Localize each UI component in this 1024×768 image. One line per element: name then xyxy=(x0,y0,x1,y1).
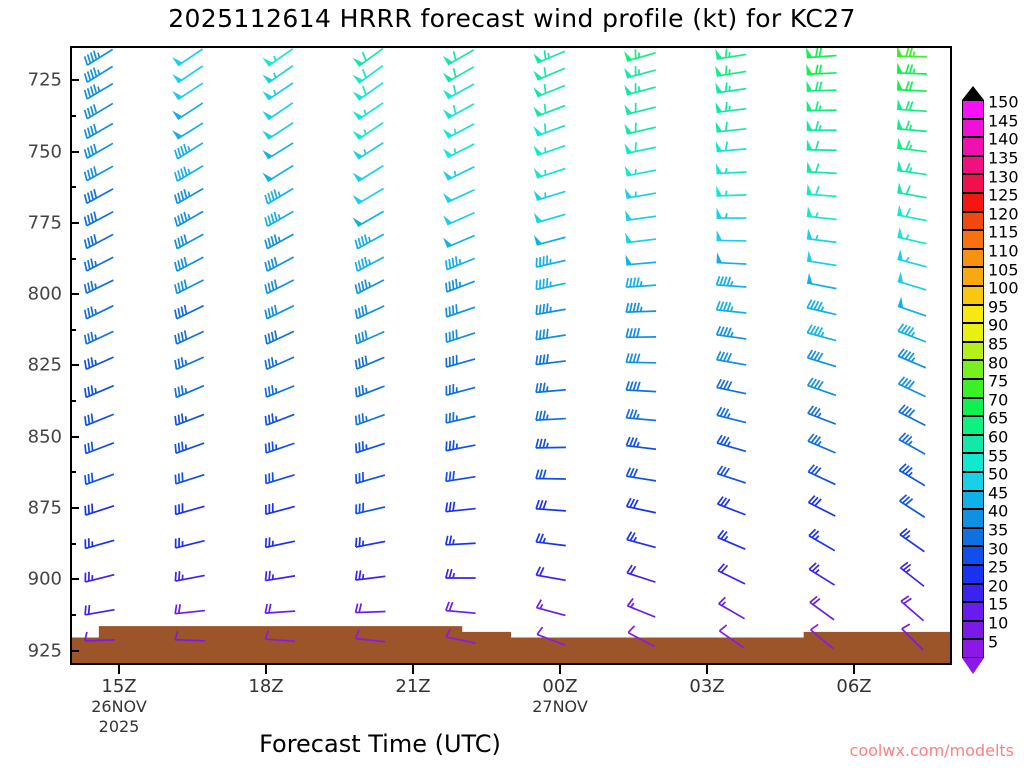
wind-barb xyxy=(808,465,835,485)
wind-barb xyxy=(266,472,295,483)
wind-barb xyxy=(175,357,204,369)
wind-barb xyxy=(266,571,295,581)
wind-barb xyxy=(533,84,565,97)
wind-barb xyxy=(536,303,565,314)
wind-barb xyxy=(175,189,203,204)
wind-barb xyxy=(719,597,745,618)
y-axis-tick-label: 800 xyxy=(28,284,62,305)
colorbar-swatch xyxy=(962,360,984,379)
y-axis-minor-tick xyxy=(70,543,76,545)
y-axis-tick-label: 825 xyxy=(28,355,62,376)
wind-barb xyxy=(807,251,836,266)
colorbar-swatch xyxy=(962,453,984,472)
colorbar-tick-label: 50 xyxy=(988,465,1008,484)
wind-barb xyxy=(897,99,927,111)
wind-barb xyxy=(175,413,204,425)
wind-barb xyxy=(807,100,837,110)
colorbar-swatch xyxy=(962,621,984,640)
wind-barb xyxy=(898,249,927,267)
wind-barb xyxy=(536,567,565,581)
wind-barb xyxy=(353,143,384,159)
wind-barb xyxy=(534,168,566,178)
wind-barb xyxy=(717,208,747,218)
wind-barb xyxy=(897,182,926,197)
wind-barb xyxy=(262,143,293,159)
colorbar-tick-label: 35 xyxy=(988,521,1008,540)
wind-barb xyxy=(443,84,474,98)
wind-barb xyxy=(715,65,746,76)
wind-barb xyxy=(717,407,746,422)
wind-barb xyxy=(901,596,924,621)
wind-barb xyxy=(807,229,837,243)
colorbar-swatch xyxy=(962,323,984,342)
wind-barb xyxy=(626,353,656,362)
wind-barb xyxy=(625,233,656,243)
wind-barb xyxy=(809,529,835,550)
colorbar-swatch xyxy=(962,193,984,212)
wind-barb xyxy=(536,439,566,448)
wind-barb xyxy=(355,280,384,294)
wind-barb xyxy=(443,167,474,180)
wind-barb xyxy=(262,66,292,83)
wind-barb xyxy=(85,572,114,582)
y-axis-minor-tick xyxy=(70,186,76,188)
wind-barb xyxy=(534,123,566,135)
wind-barb xyxy=(356,413,385,425)
colorbar-swatch xyxy=(962,565,984,584)
wind-barb xyxy=(175,571,204,581)
wind-barb xyxy=(898,324,926,342)
wind-barb xyxy=(537,600,566,616)
wind-barb xyxy=(897,205,926,221)
wind-barb xyxy=(265,604,295,613)
wind-barb xyxy=(265,630,295,641)
wind-barb xyxy=(265,413,294,425)
wind-barb xyxy=(443,190,474,203)
colorbar-tick-label: 95 xyxy=(988,297,1008,316)
wind-barb xyxy=(628,626,654,647)
x-axis-tick-label: 03Z xyxy=(689,676,724,697)
wind-barb xyxy=(806,48,837,58)
y-axis-tick-mark xyxy=(70,151,79,153)
colorbar-tick-label: 150 xyxy=(988,93,1019,112)
colorbar-tick-label: 75 xyxy=(988,372,1008,391)
colorbar-tick-label: 80 xyxy=(988,353,1008,372)
wind-barb xyxy=(810,597,834,620)
colorbar-tick-label: 45 xyxy=(988,483,1008,502)
wind-barb xyxy=(353,66,383,84)
colorbar-tick-label: 140 xyxy=(988,130,1019,149)
wind-barb xyxy=(626,303,656,312)
wind-barb xyxy=(176,503,205,514)
wind-barb xyxy=(536,255,565,267)
wind-barb xyxy=(900,495,925,517)
colorbar-tick-label: 125 xyxy=(988,186,1019,205)
wind-barb xyxy=(446,279,475,292)
wind-barb xyxy=(446,602,476,613)
x-axis-title: Forecast Time (UTC) xyxy=(0,730,760,758)
y-axis-tick-label: 750 xyxy=(28,141,62,162)
wind-barb xyxy=(175,280,204,294)
wind-barb xyxy=(715,48,746,59)
colorbar-tick-label: 55 xyxy=(988,446,1008,465)
colorbar-swatch xyxy=(962,119,984,138)
wind-profile-chart: 2025112614 HRRR forecast wind profile (k… xyxy=(0,0,1024,768)
wind-barb xyxy=(536,383,566,393)
colorbar-swatch xyxy=(962,286,984,305)
wind-barb xyxy=(353,211,384,226)
colorbar-tick-label: 100 xyxy=(988,279,1019,298)
wind-barb xyxy=(175,631,205,641)
wind-barb xyxy=(85,189,113,203)
colorbar-swatch xyxy=(962,472,984,491)
y-axis-tick-mark xyxy=(70,364,79,366)
wind-barb xyxy=(353,166,384,182)
page-title: 2025112614 HRRR forecast wind profile (k… xyxy=(0,4,1024,33)
wind-barb xyxy=(807,300,836,315)
colorbar-swatch xyxy=(962,379,984,398)
wind-barb xyxy=(262,103,293,120)
wind-barb xyxy=(808,406,836,424)
wind-barb xyxy=(172,123,203,139)
wind-barb xyxy=(627,565,655,582)
wind-barb xyxy=(717,276,747,287)
colorbar-tick-label: 40 xyxy=(988,502,1008,521)
colorbar-swatch xyxy=(962,602,984,621)
y-axis-tick-label: 775 xyxy=(28,212,62,233)
wind-barb xyxy=(443,213,474,225)
wind-barb xyxy=(807,120,837,130)
colorbar-tick-label: 145 xyxy=(988,111,1019,130)
wind-barb xyxy=(85,357,114,369)
wind-barb xyxy=(717,252,747,264)
colorbar-tick-label: 25 xyxy=(988,558,1008,577)
y-axis-minor-tick xyxy=(70,115,76,117)
wind-barb xyxy=(446,304,475,317)
wind-barb xyxy=(897,227,926,244)
wind-barb xyxy=(175,257,203,271)
wind-barb xyxy=(807,184,837,196)
wind-barb xyxy=(175,305,204,319)
wind-barb xyxy=(897,160,927,174)
wind-barb xyxy=(809,496,836,516)
colorbar-swatch xyxy=(962,398,984,417)
wind-barb xyxy=(265,280,294,294)
wind-barb xyxy=(85,442,114,454)
colorbar-swatch xyxy=(962,491,984,510)
wind-barb xyxy=(85,538,114,548)
colorbar-swatch xyxy=(962,528,984,547)
watermark-link[interactable]: coolwx.com/modelts xyxy=(850,741,1014,760)
y-axis-tick-mark xyxy=(70,222,79,224)
wind-barb xyxy=(446,355,475,367)
wind-barb xyxy=(85,331,114,344)
wind-barb xyxy=(85,212,113,226)
wind-barb xyxy=(718,530,745,549)
wind-barb xyxy=(85,166,113,180)
wind-barb xyxy=(627,498,656,512)
wind-barb xyxy=(85,103,113,118)
wind-barb xyxy=(172,49,203,66)
colorbar-swatch xyxy=(962,435,984,454)
wind-barb xyxy=(534,146,566,156)
wind-barb xyxy=(624,123,655,134)
y-axis-minor-tick xyxy=(70,329,76,331)
y-axis-labels: 725750775800825850875900925 xyxy=(0,0,62,768)
wind-barb xyxy=(715,102,746,112)
wind-barb xyxy=(806,64,836,74)
colorbar-tick-label: 5 xyxy=(988,632,998,651)
wind-barb xyxy=(356,472,385,483)
wind-barb xyxy=(900,562,924,586)
colorbar-tick-label: 120 xyxy=(988,204,1019,223)
wind-barb xyxy=(446,330,475,343)
wind-barb xyxy=(85,605,114,615)
wind-barb xyxy=(900,529,924,552)
wind-barb xyxy=(717,379,746,393)
wind-barb xyxy=(172,103,203,119)
wind-barb-layer xyxy=(72,48,950,663)
wind-barb xyxy=(899,377,926,397)
y-axis-minor-tick xyxy=(70,258,76,260)
colorbar-swatch xyxy=(962,267,984,286)
colorbar-tick-label: 15 xyxy=(988,595,1008,614)
wind-barb xyxy=(266,503,295,514)
wind-barb xyxy=(443,50,474,65)
x-axis-tick-label: 06Z xyxy=(836,676,871,697)
wind-barb xyxy=(85,306,114,319)
wind-barb xyxy=(627,532,656,548)
wind-barb xyxy=(355,257,383,271)
wind-barb xyxy=(265,385,294,397)
wind-barb xyxy=(266,537,295,547)
wind-barb xyxy=(176,538,205,548)
colorbar-top-cap xyxy=(962,86,984,100)
colorbar-tick-label: 135 xyxy=(988,149,1019,168)
wind-barb xyxy=(898,349,925,368)
wind-barb xyxy=(626,328,656,337)
wind-barb xyxy=(625,188,656,198)
y-axis-tick-label: 850 xyxy=(28,426,62,447)
wind-barb xyxy=(897,63,927,74)
x-axis-tick-mark xyxy=(412,665,414,674)
wind-barb xyxy=(717,326,747,339)
y-axis-tick-label: 900 xyxy=(28,569,62,590)
y-axis-minor-tick xyxy=(70,400,76,402)
wind-barb xyxy=(811,624,834,648)
wind-barb xyxy=(265,211,293,226)
x-axis-tick-mark xyxy=(118,665,120,674)
wind-barb xyxy=(807,206,837,219)
wind-barb xyxy=(85,280,114,293)
wind-barb xyxy=(809,563,834,585)
colorbar-tick-label: 110 xyxy=(988,242,1019,261)
wind-barb xyxy=(355,305,384,319)
wind-barb xyxy=(353,103,384,120)
y-axis-tick-mark xyxy=(70,650,79,652)
y-axis-tick-label: 875 xyxy=(28,498,62,519)
wind-barb xyxy=(717,351,746,365)
wind-barb xyxy=(624,83,656,95)
wind-barb xyxy=(446,569,476,578)
wind-barb xyxy=(446,502,476,512)
wind-barb xyxy=(807,139,837,150)
wind-barb xyxy=(717,301,747,313)
wind-barb xyxy=(625,255,656,265)
y-axis-tick-mark xyxy=(70,79,79,81)
y-axis-tick-label: 725 xyxy=(28,70,62,91)
wind-barb xyxy=(446,440,475,451)
wind-barb xyxy=(534,190,566,200)
wind-barb xyxy=(718,497,746,515)
y-axis-tick-mark xyxy=(70,578,79,580)
wind-barb xyxy=(536,500,566,511)
wind-barb xyxy=(808,378,836,395)
x-axis-tick-mark xyxy=(853,665,855,674)
wind-barb xyxy=(356,630,386,642)
wind-barb xyxy=(446,256,475,269)
colorbar-swatch xyxy=(962,342,984,361)
colorbar-swatch xyxy=(962,100,984,119)
wind-barb xyxy=(265,330,294,344)
wind-barb xyxy=(265,188,293,203)
wind-barb xyxy=(536,470,566,479)
wind-barb xyxy=(536,329,565,340)
wind-barb xyxy=(85,414,114,426)
wind-barb xyxy=(624,103,655,114)
wind-barb xyxy=(85,257,114,271)
wind-barb xyxy=(262,49,292,66)
wind-barb xyxy=(85,143,113,158)
wind-barb xyxy=(897,79,927,91)
x-axis-date-label: 26NOV xyxy=(91,697,147,716)
wind-barb xyxy=(897,119,927,132)
wind-barb xyxy=(353,188,384,203)
wind-barb xyxy=(898,271,927,290)
colorbar-swatch xyxy=(962,509,984,528)
wind-barb xyxy=(897,48,927,57)
plot-area xyxy=(70,46,952,665)
wind-barb xyxy=(899,464,925,486)
wind-barb xyxy=(85,504,114,515)
wind-barb xyxy=(716,186,746,196)
wind-barb xyxy=(85,632,115,641)
wind-barb xyxy=(715,82,746,92)
wind-barb xyxy=(624,142,655,153)
wind-barb xyxy=(353,123,384,140)
wind-barb xyxy=(627,598,655,617)
wind-barb xyxy=(808,434,835,453)
colorbar-tick-label: 65 xyxy=(988,409,1008,428)
colorbar-tick-label: 60 xyxy=(988,428,1008,447)
wind-barb xyxy=(899,433,925,454)
wind-barb xyxy=(536,533,566,545)
wind-barb xyxy=(807,162,837,174)
colorbar-swatch xyxy=(962,156,984,175)
wind-barb xyxy=(534,235,566,245)
wind-barb xyxy=(716,122,747,132)
wind-barb xyxy=(262,166,293,182)
wind-barb xyxy=(626,381,656,391)
wind-barb xyxy=(897,138,927,152)
colorbar-swatch xyxy=(962,416,984,435)
wind-barb xyxy=(716,141,747,151)
wind-barb xyxy=(85,473,114,485)
colorbar-swatch xyxy=(962,230,984,249)
colorbar-tick-label: 90 xyxy=(988,316,1008,335)
x-axis-date-label: 27NOV xyxy=(532,697,588,716)
colorbar-swatch xyxy=(962,249,984,268)
wind-barb xyxy=(443,124,474,138)
wind-barb xyxy=(85,385,114,397)
wind-barb xyxy=(446,471,475,481)
colorbar-tick-label: 70 xyxy=(988,390,1008,409)
wind-barb xyxy=(356,385,385,397)
x-axis-tick-mark xyxy=(559,665,561,674)
wind-barb xyxy=(353,83,383,100)
wind-barb xyxy=(902,624,923,650)
x-axis-tick-mark xyxy=(706,665,708,674)
wind-barb xyxy=(533,67,565,80)
wind-barb xyxy=(172,66,203,83)
wind-barb xyxy=(536,278,565,289)
wind-barb xyxy=(443,235,475,247)
wind-barb xyxy=(175,211,203,226)
wind-barb xyxy=(356,603,386,612)
wind-barb xyxy=(806,81,836,91)
wind-barb xyxy=(175,604,205,614)
wind-barb xyxy=(262,83,293,100)
colorbar-swatch xyxy=(962,639,984,658)
x-axis-tick-label: 21Z xyxy=(395,676,430,697)
wind-barb xyxy=(85,49,113,65)
wind-barb xyxy=(533,104,565,116)
wind-barb xyxy=(175,143,203,159)
wind-barb xyxy=(807,325,836,341)
wind-barb xyxy=(443,144,474,158)
wind-barb xyxy=(265,257,293,271)
wind-barb xyxy=(626,468,655,481)
wind-barb xyxy=(266,441,295,453)
x-axis-tick-mark xyxy=(265,665,267,674)
colorbar-tick-label: 105 xyxy=(988,260,1019,279)
wind-barb xyxy=(356,570,386,580)
colorbar-tick-label: 130 xyxy=(988,167,1019,186)
colorbar-swatch xyxy=(962,137,984,156)
x-axis-tick-label: 00Z xyxy=(542,676,577,697)
wind-barb xyxy=(625,166,656,176)
wind-barb xyxy=(175,234,203,248)
wind-barb xyxy=(443,67,474,82)
wind-barb xyxy=(626,277,656,287)
colorbar-swatch xyxy=(962,212,984,231)
wind-barb xyxy=(353,49,383,67)
wind-barb xyxy=(356,441,385,452)
wind-barb xyxy=(626,437,656,449)
wind-barb xyxy=(534,213,566,223)
wind-barb xyxy=(446,412,475,423)
wind-barb xyxy=(175,385,204,397)
colorbar-tick-label: 20 xyxy=(988,576,1008,595)
wind-barb xyxy=(807,273,836,289)
colorbar-tick-label: 30 xyxy=(988,539,1008,558)
wind-barb xyxy=(265,234,293,248)
colorbar-legend: 5101520253035404550556065707580859095100… xyxy=(962,86,1024,666)
y-axis-tick-mark xyxy=(70,436,79,438)
wind-barb xyxy=(265,357,294,369)
wind-barb xyxy=(717,230,747,241)
wind-barb xyxy=(356,356,385,369)
